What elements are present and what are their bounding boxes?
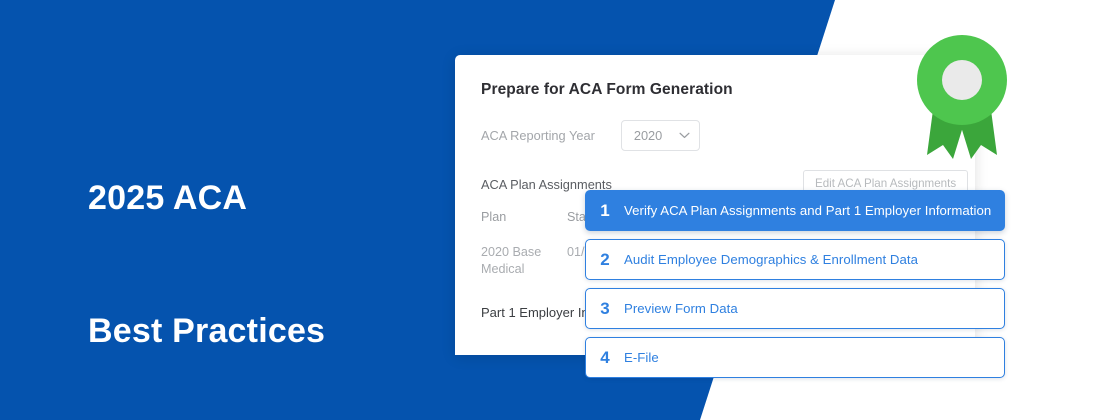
- step-label-2: Audit Employee Demographics & Enrollment…: [624, 252, 918, 267]
- step-label-4: E-File: [624, 350, 659, 365]
- step-item-1[interactable]: 1 Verify ACA Plan Assignments and Part 1…: [585, 190, 1005, 231]
- step-item-4[interactable]: 4 E-File: [585, 337, 1005, 378]
- card-heading: Prepare for ACA Form Generation: [481, 81, 733, 99]
- steps-list: 1 Verify ACA Plan Assignments and Part 1…: [585, 190, 1005, 386]
- step-item-3[interactable]: 3 Preview Form Data: [585, 288, 1005, 329]
- chevron-down-icon: [679, 132, 690, 139]
- column-header-plan: Plan: [481, 210, 567, 230]
- hero-title-line-1: 2025 ACA: [88, 176, 325, 220]
- step-number-2: 2: [586, 250, 624, 270]
- cell-plan: 2020 Base Medical: [481, 244, 567, 279]
- reporting-year-label: ACA Reporting Year: [481, 128, 595, 143]
- reporting-year-select[interactable]: 2020: [621, 120, 700, 151]
- step-number-1: 1: [586, 201, 624, 221]
- step-item-2[interactable]: 2 Audit Employee Demographics & Enrollme…: [585, 239, 1005, 280]
- step-label-1: Verify ACA Plan Assignments and Part 1 E…: [624, 203, 991, 218]
- reporting-year-row: ACA Reporting Year 2020: [481, 120, 700, 151]
- award-ribbon-icon: [913, 33, 1011, 165]
- step-label-3: Preview Form Data: [624, 301, 738, 316]
- reporting-year-value: 2020: [634, 128, 662, 143]
- edit-plan-assignments-label: Edit ACA Plan Assignments: [815, 177, 956, 190]
- step-number-3: 3: [586, 299, 624, 319]
- hero-title-line-2: Best Practices: [88, 309, 325, 353]
- step-number-4: 4: [586, 348, 624, 368]
- hero-title: 2025 ACA Best Practices: [88, 88, 325, 397]
